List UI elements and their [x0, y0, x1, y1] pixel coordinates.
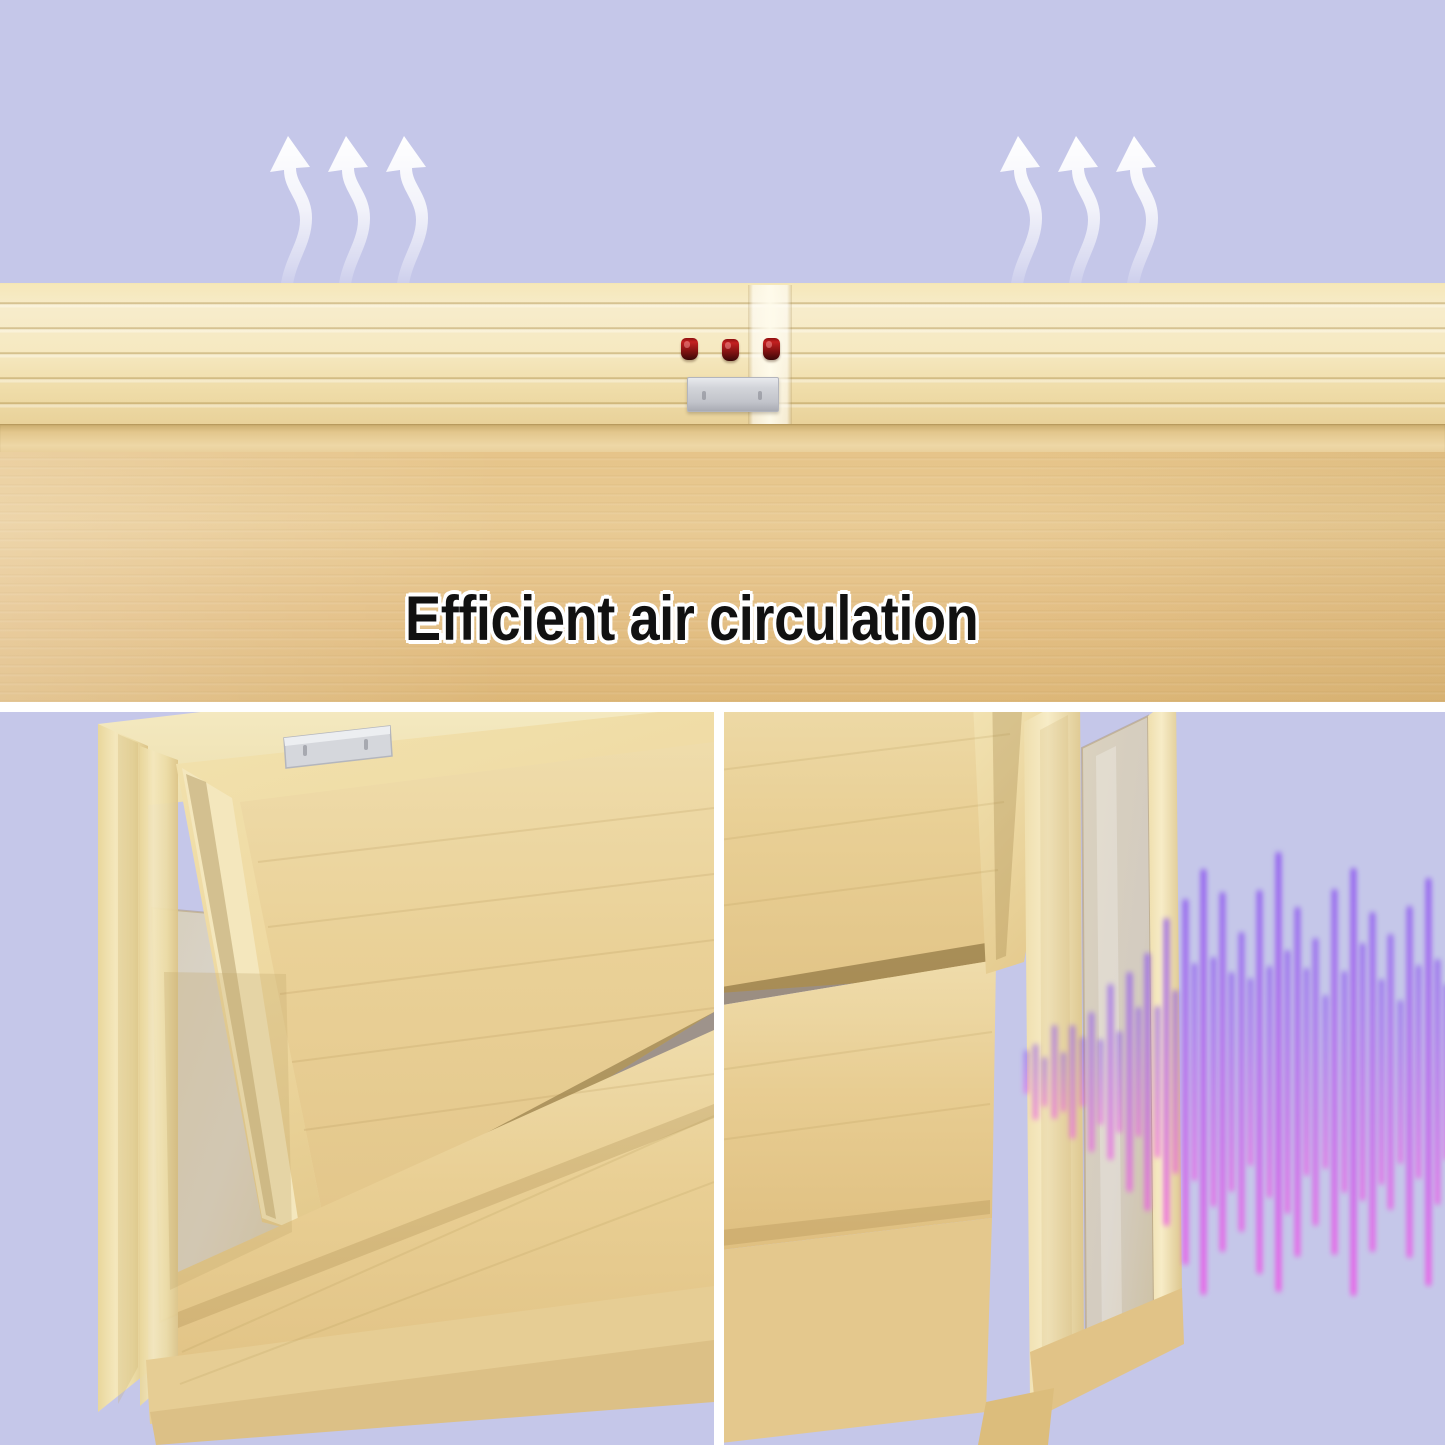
sound-wave-bar — [1061, 1052, 1066, 1112]
sound-wave-bar — [1276, 852, 1281, 1292]
sound-wave-bar — [1388, 934, 1393, 1210]
sound-wave-bar — [1192, 963, 1197, 1180]
bread-box-illustration — [0, 712, 714, 1445]
sound-wave-bar — [1342, 971, 1347, 1194]
sound-wave-bar — [1127, 972, 1132, 1192]
sound-wave-bar — [1257, 890, 1262, 1274]
heat-retention-panel: Exceptional heat retention — [0, 712, 714, 1445]
sound-wave-bar — [1052, 1025, 1057, 1119]
sound-wave-bar — [1229, 972, 1234, 1192]
airflow-arrow-group-left — [258, 112, 488, 297]
sound-wave-bar — [1323, 995, 1328, 1168]
sound-wave-bar — [1042, 1057, 1047, 1107]
sound-wave-bar — [1332, 889, 1337, 1256]
acoustic-insulation-panel: Excellent acoustic insulation — [724, 712, 1445, 1445]
sound-wave-bar — [1398, 1000, 1403, 1164]
sound-wave-bar — [1070, 1025, 1075, 1139]
red-indicator-knob[interactable] — [763, 338, 780, 360]
rising-airflow-arrow — [258, 112, 488, 297]
panel-divider-vertical — [714, 702, 724, 1445]
airflow-arrow-group-right — [988, 112, 1218, 297]
sound-wave-bar — [1416, 965, 1421, 1179]
red-indicator-knob[interactable] — [722, 339, 739, 361]
sound-wave-bar — [1239, 932, 1244, 1233]
sound-wave-bars — [1022, 858, 1445, 1298]
caption-air-circulation: Efficient air circulation — [405, 583, 978, 655]
sound-wave-bar — [1183, 899, 1188, 1266]
rising-airflow-arrow — [988, 112, 1218, 297]
sound-wave-bar — [1164, 918, 1169, 1226]
sound-wave-bar — [1379, 979, 1384, 1184]
infographic-canvas: Efficient air circulation — [0, 0, 1445, 1445]
sound-wave-bar — [1248, 978, 1253, 1166]
front-board — [0, 452, 1445, 702]
sound-wave-bar — [1117, 1031, 1122, 1134]
sound-wave-bar — [1351, 868, 1356, 1296]
sound-wave-bar — [1098, 1039, 1103, 1124]
sound-wave-bar — [1080, 1037, 1085, 1107]
sound-wave-bar — [1155, 1006, 1160, 1159]
sound-wave-bar — [1295, 907, 1300, 1256]
metal-hinge-plate — [687, 377, 779, 412]
sound-wave-bar — [1360, 943, 1365, 1201]
sound-wave-bar — [1313, 938, 1318, 1225]
sound-wave-bar — [1407, 906, 1412, 1258]
red-indicator-knob[interactable] — [681, 338, 698, 360]
sound-wave-bar — [1304, 968, 1309, 1176]
sound-wave-bar — [1173, 990, 1178, 1175]
sound-wave-bar — [1211, 957, 1216, 1206]
sound-wave-bar — [1089, 1012, 1094, 1153]
sound-wave-bar — [1426, 878, 1431, 1286]
sound-wave-bar — [1145, 953, 1150, 1211]
sound-wave-bar — [1267, 966, 1272, 1198]
sound-wave-bar — [1108, 984, 1113, 1160]
sound-wave-bar — [1033, 1044, 1038, 1120]
sound-wave-bar — [1285, 950, 1290, 1214]
sound-wave-bar — [1201, 869, 1206, 1294]
air-circulation-panel: Efficient air circulation — [0, 0, 1445, 702]
sound-wave-bar — [1435, 959, 1440, 1205]
sound-wave-bar — [1136, 1007, 1141, 1136]
sound-wave-bar — [1024, 1050, 1029, 1094]
sound-wave-bar — [1220, 892, 1225, 1253]
sound-wave-bar — [1370, 912, 1375, 1252]
